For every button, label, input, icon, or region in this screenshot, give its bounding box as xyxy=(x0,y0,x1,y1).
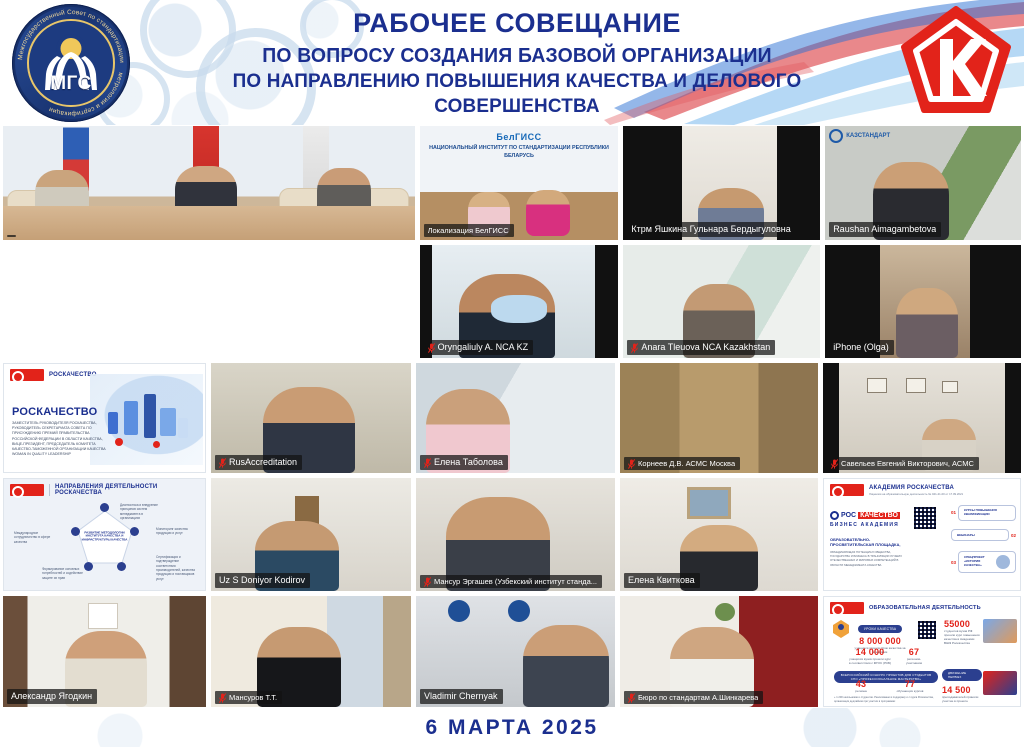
qr-code-icon xyxy=(916,619,938,641)
tile-label: Александр Ягодкин xyxy=(7,689,97,704)
slide-title: РОСКАЧЕСТВО xyxy=(4,406,117,418)
education-stat-1: 14 000 учащихся вузов прошли курс в соот… xyxy=(848,647,892,665)
platform-body: ОБЪЕДИНЯЮЩАЯ ПОТЕНЦИАЛ ОБЩЕСТВА, ГОСУДАР… xyxy=(830,550,904,566)
stat-value: 8 000 000 xyxy=(854,636,906,646)
wall-certificate-1 xyxy=(867,378,887,393)
belgiss-banner-text: НАЦИОНАЛЬНЫЙ ИНСТИТУТ ПО СТАНДАРТИЗАЦИИ … xyxy=(428,144,611,160)
qr-code-icon xyxy=(912,505,938,531)
row2-spacer xyxy=(2,244,416,359)
slide-subtitle: Лицензия на образовательную деятельность… xyxy=(869,492,963,496)
slide-brand-row: НАПРАВЛЕНИЯ ДЕЯТЕЛЬНОСТИ РОСКАЧЕСТВА xyxy=(4,479,205,499)
tile-label-text: iPhone (Olga) xyxy=(833,341,889,354)
slide-title: НАПРАВЛЕНИЯ ДЕЯТЕЛЬНОСТИ РОСКАЧЕСТВА xyxy=(55,484,199,496)
slide-academy: АКАДЕМИЯ РОСКАЧЕСТВА Лицензия на образов… xyxy=(823,478,1021,591)
tile-label-text: Мансуров Т.Т. xyxy=(229,692,277,703)
tile-label: Елена Таболова xyxy=(420,455,508,470)
tile-label-text: Александр Ягодкин xyxy=(11,690,92,703)
slide-roskachestvo: РОСКАЧЕСТВО РОСКАЧЕСТВО ЗАМЕСТИТЕЛЬ РУКО… xyxy=(3,363,206,473)
node-chip-3 xyxy=(130,527,139,536)
education-footnote: + 1 200 школьников и студентов. Реализов… xyxy=(834,696,944,703)
academy-logo: РОС КАЧЕСТВО БИЗНЕС АКАДЕМИЯ xyxy=(830,511,900,528)
photo-thumb-2 xyxy=(983,671,1017,695)
item-text: КУРСЫ ПОВЫШЕНИЯ КВАЛИФИКАЦИИ xyxy=(964,509,1010,517)
node-label-2: Мониторинг качества продукции и услуг xyxy=(156,527,198,536)
node-chip-5 xyxy=(117,562,126,571)
stat-value: 77 xyxy=(894,679,926,689)
tile-label: Vladimir Chernyak xyxy=(420,689,503,704)
tile-mansurov[interactable]: Мансуров Т.Т. xyxy=(210,595,412,708)
tile-elena-kvitkova[interactable]: Елена Квиткова xyxy=(619,477,819,592)
roskachestvo-k-logo xyxy=(900,6,1012,118)
education-stat-5: 77 обучающих курсов xyxy=(894,679,926,693)
item-number: 03 xyxy=(951,560,956,565)
tile-iphone-olga[interactable]: iPhone (Olga) xyxy=(824,244,1022,359)
slide-title: АКАДЕМИЯ РОСКАЧЕСТВА xyxy=(869,485,963,491)
wall-certificate-3 xyxy=(942,381,958,393)
page-title: РАБОЧЕЕ СОВЕЩАНИЕ xyxy=(150,8,884,39)
slide-napravleniya: НАПРАВЛЕНИЯ ДЕЯТЕЛЬНОСТИ РОСКАЧЕСТВА РАЗ… xyxy=(3,478,206,591)
presentation-slide: Межгосударственный Совет по стандартизац… xyxy=(0,0,1024,747)
stat-value: 67 xyxy=(900,647,928,657)
education-movement: ДВИЖЕНИЕ ПЕРВЫХ 14 500 преподавателей пр… xyxy=(942,665,982,703)
tile-label: Мансур Эргашев (Узбекский институт станд… xyxy=(420,575,602,588)
stat-value: 14 000 xyxy=(848,647,892,657)
tile-doniyor-kodirov[interactable]: Uz S Doniyor Kodirov xyxy=(210,477,412,592)
tile-yashkina[interactable]: Ктрм Яшкина Гульнара Бердыгуловна xyxy=(622,125,821,241)
header-title-block: РАБОЧЕЕ СОВЕЩАНИЕ ПО ВОПРОСУ СОЗДАНИЯ БА… xyxy=(150,8,884,120)
tile-label: Мансуров Т.Т. xyxy=(215,691,282,704)
roskachestvo-badge-icon xyxy=(830,602,864,614)
mic-muted-icon xyxy=(428,343,435,353)
tile-korneev[interactable]: Корнеев Д.В. АСМС Москва xyxy=(619,362,819,474)
academy-platform-block: ОБРАЗОВАТЕЛЬНО-ПРОСВЕТИТЕЛЬСКАЯ ПЛОЩАДКА… xyxy=(830,537,904,567)
belgiss-banner: БелГИСС НАЦИОНАЛЬНЫЙ ИНСТИТУТ ПО СТАНДАР… xyxy=(428,132,611,160)
tile-label: RusAccreditation xyxy=(215,455,302,470)
eaeu-emblem-2 xyxy=(508,600,530,622)
tile-label-text: RusAccreditation xyxy=(229,456,297,469)
tile-aimagambetova[interactable]: КАЗСТАНДАРТ Raushan Aimagambetova xyxy=(824,125,1022,241)
stat-caption: преподавателей приняли участие в проекте xyxy=(942,695,982,703)
mic-muted-icon xyxy=(424,577,431,587)
tile-label-text: Anara Tleuova NCA Kazakhstan xyxy=(641,341,770,354)
node-chip-2 xyxy=(100,503,109,512)
tile-label: Raushan Aimagambetova xyxy=(829,222,941,237)
tile-label-text: Vladimir Chernyak xyxy=(424,690,498,703)
tile-label-text: Локализация БелГИСС xyxy=(428,225,509,236)
tile-label: Ктрм Яшкина Гульнара Бердыгуловна xyxy=(627,222,795,237)
item-thumb xyxy=(996,555,1010,569)
slide-brand-row: АКАДЕМИЯ РОСКАЧЕСТВА Лицензия на образов… xyxy=(824,479,1020,499)
mic-muted-icon xyxy=(831,459,838,469)
event-date: 6 МАРТА 2025 xyxy=(425,716,598,740)
header-subtitle-2: ПО НАПРАВЛЕНИЮ ПОВЫШЕНИЯ КАЧЕСТВА И ДЕЛО… xyxy=(161,69,873,120)
grid-row-1: БелГИСС НАЦИОНАЛЬНЫЙ ИНСТИТУТ ПО СТАНДАР… xyxy=(0,125,1024,241)
tile-label: Uz S Doniyor Kodirov xyxy=(215,573,310,588)
tile-label-text: Raushan Aimagambetova xyxy=(833,223,936,236)
slide-brand-row: ОБРАЗОВАТЕЛЬНАЯ ДЕЯТЕЛЬНОСТЬ xyxy=(824,597,1020,617)
divider xyxy=(49,484,50,496)
academy-logo-sub: БИЗНЕС АКАДЕМИЯ xyxy=(830,522,900,528)
tile-vladimir-chernyak[interactable]: Vladimir Chernyak xyxy=(415,595,616,708)
grid-row-5: Александр Ягодкин Мансуров Т.Т. Vladimir… xyxy=(0,595,1024,708)
mic-muted-icon xyxy=(219,693,226,703)
tile-belgiss[interactable]: БелГИСС НАЦИОНАЛЬНЫЙ ИНСТИТУТ ПО СТАНДАР… xyxy=(419,125,620,241)
grid-row-2: Oryngaliuly A. NCA KZ Anara Tleuova NCA … xyxy=(0,244,1024,359)
grid-row-3: РОСКАЧЕСТВО РОСКАЧЕСТВО ЗАМЕСТИТЕЛЬ РУКО… xyxy=(0,362,1024,474)
academy-item-3: 03 СПЕЦПРОЕКТ «ИСТОРИЯ КАЧЕСТВА» xyxy=(951,551,1016,573)
tile-anara-tleuova[interactable]: Anara Tleuova NCA Kazakhstan xyxy=(622,244,821,359)
tile-mansur-ergashev[interactable]: Мансур Эргашев (Узбекский институт станд… xyxy=(415,477,616,592)
tile-label: Локализация БелГИСС xyxy=(424,224,514,237)
face-mask-icon xyxy=(491,295,547,323)
tile-label-text: Uz S Doniyor Kodirov xyxy=(219,574,305,587)
slide-brand-text: РОСКАЧЕСТВО xyxy=(49,372,97,378)
stat-value: 14 500 xyxy=(942,685,982,695)
slide-text-block: РОСКАЧЕСТВО ЗАМЕСТИТЕЛЬ РУКОВОДИТЕЛЯ РОС… xyxy=(4,406,117,460)
platform-title: ОБРАЗОВАТЕЛЬНО-ПРОСВЕТИТЕЛЬСКАЯ ПЛОЩАДКА… xyxy=(830,537,904,547)
tile-label-text: Бюро по стандартам А.Шинкарева xyxy=(638,692,758,703)
table-surface xyxy=(3,206,415,240)
wall-portrait xyxy=(687,487,731,519)
kazstandart-logo: КАЗСТАНДАРТ xyxy=(829,129,890,143)
header-subtitle-1: ПО ВОПРОСУ СОЗДАНИЯ БАЗОВОЙ ОРГАНИЗАЦИИ xyxy=(161,43,873,69)
stat-caption: региона xyxy=(846,689,876,693)
mgs-emblem: Межгосударственный Совет по стандартизац… xyxy=(12,4,130,122)
stat-value: 55000 xyxy=(944,619,980,629)
mic-muted-icon xyxy=(628,459,635,469)
wall-certificate-2 xyxy=(906,378,926,393)
grid-row-4: НАПРАВЛЕНИЯ ДЕЯТЕЛЬНОСТИ РОСКАЧЕСТВА РАЗ… xyxy=(0,477,1024,592)
academy-item-2: ВЕБИНАРЫ 02 xyxy=(951,529,1016,541)
node-label-4: Формирование основных потребностей и сод… xyxy=(42,567,84,580)
door-decor xyxy=(295,496,319,524)
tile-label: Елена Квиткова xyxy=(624,573,700,588)
node-label-1: Диагностика и внедрение принципов систем… xyxy=(120,503,162,520)
tile-label-text: Корнеев Д.В. АСМС Москва xyxy=(638,458,735,469)
tile-label: Савельев Евгений Викторович, АСМС xyxy=(827,457,979,470)
roskachestvo-badge-icon xyxy=(10,369,44,381)
footer-bar: 6 МАРТА 2025 xyxy=(0,708,1024,747)
tile-aleksandr-yagodkin[interactable]: Александр Ягодкин xyxy=(2,595,207,708)
roskachestvo-badge-icon xyxy=(10,484,44,496)
olga-person xyxy=(896,288,958,358)
mic-muted-icon xyxy=(628,693,635,703)
photo-thumb-1 xyxy=(983,619,1017,643)
item-number: 01 xyxy=(951,510,956,515)
pill2-text: ДВИЖЕНИЕ ПЕРВЫХ xyxy=(942,669,982,681)
tile-rusaccreditation[interactable]: RusAccreditation xyxy=(210,362,412,474)
item-number: 02 xyxy=(1011,533,1016,538)
header-banner: Межгосударственный Совет по стандартизац… xyxy=(0,0,1024,125)
tile-label xyxy=(7,235,16,237)
wall-plant xyxy=(715,603,735,621)
emblem-inner-disc: МГС xyxy=(27,19,114,106)
node-label-3: Сертификация и подтверждение соответстви… xyxy=(156,555,198,581)
tile-elena-tabolova[interactable]: Елена Таболова xyxy=(415,362,616,474)
tile-slide-roskachestvo[interactable]: РОСКАЧЕСТВО РОСКАЧЕСТВО ЗАМЕСТИТЕЛЬ РУКО… xyxy=(2,362,207,474)
tile-label-text: Елена Квиткова xyxy=(628,574,695,587)
slide-title: ОБРАЗОВАТЕЛЬНАЯ ДЕЯТЕЛЬНОСТЬ xyxy=(869,605,981,611)
node-label-5: Международное сотрудничество в сфере кач… xyxy=(14,531,56,544)
tile-label-text: Oryngaliuly A. NCA KZ xyxy=(438,341,529,354)
belgiss-participant-2 xyxy=(526,190,570,236)
education-stat-4: 43 региона xyxy=(846,679,876,693)
tile-main-conference-room[interactable] xyxy=(2,125,416,241)
education-stat-3: 55000 студентов вузов РФ прошли курс пов… xyxy=(944,619,980,645)
tile-label: iPhone (Olga) xyxy=(829,340,894,355)
tile-label: Anara Tleuova NCA Kazakhstan xyxy=(627,340,775,355)
slide-body: ЗАМЕСТИТЕЛЬ РУКОВОДИТЕЛЯ РОСКАЧЕСТВА, РУ… xyxy=(4,418,117,460)
wall-poster xyxy=(88,603,118,629)
slide-education: ОБРАЗОВАТЕЛЬНАЯ ДЕЯТЕЛЬНОСТЬ УРОКИ КАЧЕС… xyxy=(823,596,1021,707)
node-chip-4 xyxy=(84,562,93,571)
tile-slide-education[interactable]: ОБРАЗОВАТЕЛЬНАЯ ДЕЯТЕЛЬНОСТЬ УРОКИ КАЧЕС… xyxy=(822,595,1022,708)
roskachestvo-badge-icon xyxy=(830,484,864,496)
stat-value: 43 xyxy=(846,679,876,689)
pentagon-center-label: РАЗВИТИЕ МЕТОДОЛОГИИ ИНСТИТУТА КАЧЕСТВА … xyxy=(82,531,128,542)
tile-oryngaliuly[interactable]: Oryngaliuly A. NCA KZ xyxy=(419,244,620,359)
item-text: СПЕЦПРОЕКТ «ИСТОРИЯ КАЧЕСТВА» xyxy=(964,556,993,567)
tile-label-text: Савельев Евгений Викторович, АСМС xyxy=(841,458,974,469)
tile-label: Бюро по стандартам А.Шинкарева xyxy=(624,691,763,704)
education-stat-2: 67 регионов-участников xyxy=(900,647,928,665)
tile-label: Корнеев Д.В. АСМС Москва xyxy=(624,457,740,470)
tile-label-text: Мансур Эргашев (Узбекский институт станд… xyxy=(434,576,597,587)
chernyak-person xyxy=(523,625,609,707)
uroki-kachestva-icon xyxy=(832,619,850,639)
emblem-abbr: МГС xyxy=(50,73,92,95)
tile-slide-academy[interactable]: АКАДЕМИЯ РОСКАЧЕСТВА Лицензия на образов… xyxy=(822,477,1022,592)
stat-caption: регионов-участников xyxy=(900,657,928,665)
video-grid: БелГИСС НАЦИОНАЛЬНЫЙ ИНСТИТУТ ПО СТАНДАР… xyxy=(0,125,1024,708)
stat-caption: учащихся вузов прошли курс в соответстви… xyxy=(848,657,892,665)
node-chip-1 xyxy=(71,527,80,536)
mic-muted-icon xyxy=(219,458,226,468)
tile-slide-napravleniya[interactable]: НАПРАВЛЕНИЯ ДЕЯТЕЛЬНОСТИ РОСКАЧЕСТВА РАЗ… xyxy=(2,477,207,592)
kazstandart-logo-text: КАЗСТАНДАРТ xyxy=(846,133,890,139)
tile-label-text: Ктрм Яшкина Гульнара Бердыгуловна xyxy=(631,223,790,236)
uroki-badge: УРОКИ КАЧЕСТВА xyxy=(858,625,902,633)
academy-item-1: 01 КУРСЫ ПОВЫШЕНИЯ КВАЛИФИКАЦИИ xyxy=(951,505,1016,521)
stat-caption: студентов вузов РФ прошли курс повышения… xyxy=(944,629,980,645)
tile-saveliev[interactable]: Савельев Евгений Викторович, АСМС xyxy=(822,362,1022,474)
mic-muted-icon xyxy=(424,458,431,468)
tile-shinkareva[interactable]: Бюро по стандартам А.Шинкарева xyxy=(619,595,819,708)
tile-label: Oryngaliuly A. NCA KZ xyxy=(424,340,534,355)
tile-label-text: Елена Таболова xyxy=(434,456,503,469)
stat-caption: обучающих курсов xyxy=(894,689,926,693)
item-text: ВЕБИНАРЫ xyxy=(957,533,1003,537)
mic-muted-icon xyxy=(631,343,638,353)
